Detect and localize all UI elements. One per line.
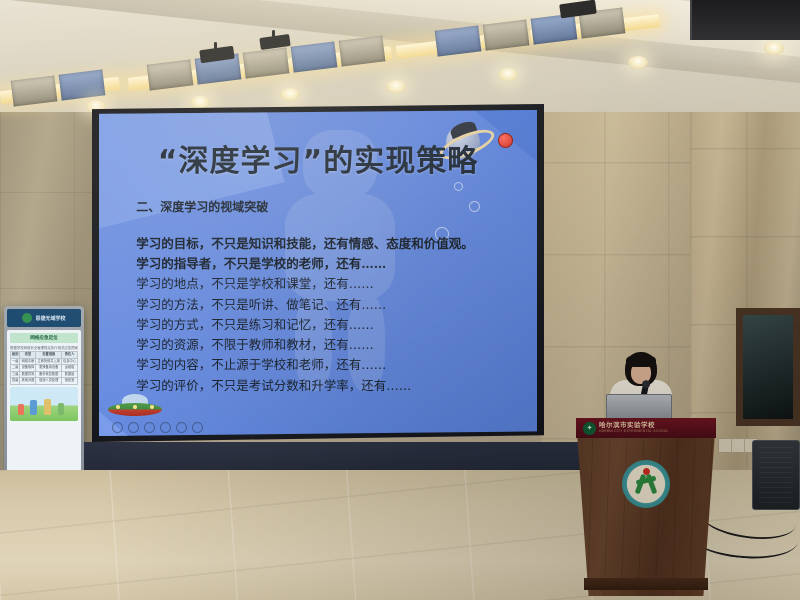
projection-screen-frame: “深度学习”的实现策略 二、深度学习的视域突破 学习的目标，不只是知识和技能，还… — [92, 104, 544, 442]
circle-icon[interactable] — [192, 422, 203, 433]
ceiling — [0, 0, 800, 112]
bubble-icon — [454, 182, 463, 191]
info-kiosk[interactable]: 思德无域学校 网络应急定位 根据学校网络安全管理规定执行相关应急预案 级别 类型… — [4, 306, 84, 486]
bubble-icon — [469, 201, 480, 212]
projected-slide: “深度学习”的实现策略 二、深度学习的视域突破 学习的目标，不只是知识和技能，还… — [99, 110, 537, 436]
kiosk-table: 级别 类型 处置措施 责任人 一级 网络中断 立即抢修并上报 信息中心 二级 设… — [10, 351, 78, 385]
presenter-fringe — [626, 354, 656, 367]
slide-body-line: 学习的目标，不只是知识和技能，还有情感、态度和价值观。 — [136, 234, 513, 254]
table-cell: 值班人员处理 — [36, 378, 62, 385]
ceiling-fixture — [291, 41, 338, 72]
table-cell: 值班室 — [62, 378, 78, 385]
slide-body-line: 学习的评价，不只是考试分数和升学率，还有…… — [136, 376, 513, 396]
slide-body-line: 学习的指导者，不只是学校的老师，还有…… — [136, 254, 513, 274]
table-row: 四级 其他问题 值班人员处理 值班室 — [11, 378, 78, 385]
kiosk-illustration — [10, 387, 78, 421]
spotlight-icon — [628, 56, 648, 69]
podium-banner-seal-icon: ✦ — [583, 422, 596, 435]
spotlight-icon — [498, 68, 518, 81]
table-cell: 四级 — [11, 378, 20, 385]
ceiling-fixture — [59, 69, 106, 100]
kiosk-screen[interactable]: 网络应急定位 根据学校网络安全管理规定执行相关应急预案 级别 类型 处置措施 责… — [7, 330, 81, 480]
laptop[interactable] — [606, 394, 672, 420]
av-rack-icon — [690, 0, 800, 40]
slide-body-line: 学习的内容，不止源于学校和老师，还有…… — [136, 355, 513, 375]
kiosk-panel-title: 网络应急定位 — [10, 333, 78, 343]
slide-body-line: 学习的方式，不只是练习和记忆，还有…… — [136, 315, 513, 335]
ceiling-fixture — [243, 47, 290, 78]
kiosk-panel-note: 根据学校网络安全管理规定执行相关应急预案 — [10, 345, 78, 350]
podium-banner: ✦ 哈尔滨市实验学校 HARBIN CITY EXPERIMENTAL SCHO… — [576, 418, 716, 438]
podium-banner-subtitle: HARBIN CITY EXPERIMENTAL SCHOOL — [599, 430, 669, 434]
kiosk-header: 思德无域学校 — [7, 309, 81, 327]
ufo-icon — [108, 394, 162, 420]
slide-title: “深度学习”的实现策略 — [134, 136, 502, 180]
ceiling-speaker-icon — [272, 30, 275, 40]
spotlight-icon — [280, 88, 300, 101]
circle-icon[interactable] — [144, 422, 155, 433]
slide-body: 学习的目标，不只是知识和技能，还有情感、态度和价值观。 学习的指导者，不只是学校… — [136, 234, 513, 396]
spotlight-icon — [190, 96, 210, 109]
speaker-cabinet — [752, 440, 800, 510]
slide-toolbar[interactable] — [112, 422, 203, 433]
kiosk-logo-icon — [22, 313, 32, 323]
slide-subtitle: 二、深度学习的视域突破 — [136, 198, 268, 215]
control-room-window — [736, 308, 800, 426]
ceiling-fixture — [11, 75, 58, 106]
table-cell: 其他问题 — [20, 378, 36, 385]
ceiling-fixture — [339, 35, 386, 66]
circle-icon[interactable] — [112, 422, 123, 433]
ceiling-fixture — [531, 13, 578, 44]
circle-icon[interactable] — [176, 422, 187, 433]
circle-icon[interactable] — [160, 422, 171, 433]
kiosk-header-title: 思德无域学校 — [35, 315, 65, 322]
ceiling-speaker-icon — [214, 42, 217, 52]
spotlight-icon — [386, 80, 406, 93]
ceiling-fixture — [147, 59, 194, 90]
circle-icon[interactable] — [128, 422, 139, 433]
lecture-hall-photo: “深度学习”的实现策略 二、深度学习的视域突破 学习的目标，不只是知识和技能，还… — [0, 0, 800, 600]
podium-base — [584, 578, 708, 590]
ceiling-fixture — [435, 25, 482, 56]
spotlight-icon — [764, 42, 784, 55]
slide-body-line: 学习的资源，不限于教师和教材，还有…… — [136, 335, 513, 355]
school-emblem — [622, 460, 670, 508]
slide-body-line: 学习的方法，不只是听讲、做笔记、还有…… — [136, 295, 513, 315]
slide-body-line: 学习的地点，不只是学校和课堂，还有…… — [136, 274, 513, 294]
ceiling-fixture — [483, 19, 530, 50]
